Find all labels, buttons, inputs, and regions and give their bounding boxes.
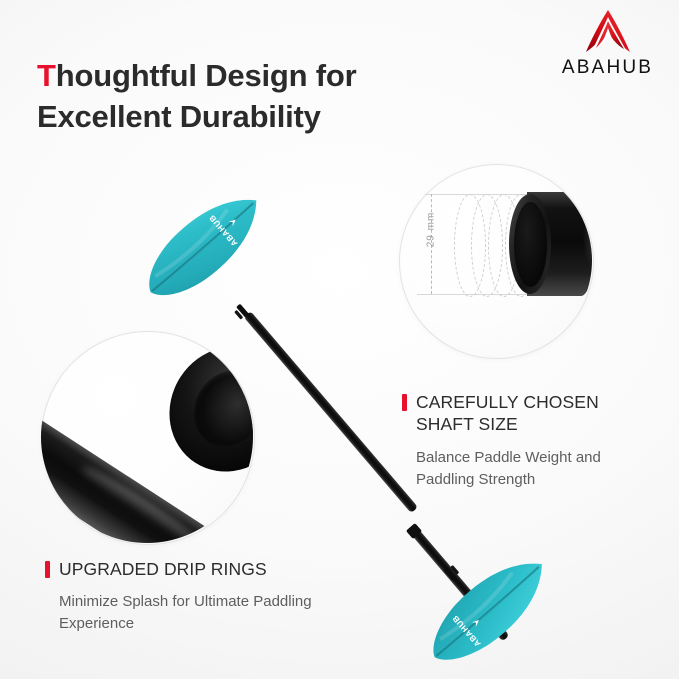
paddle-blade-top: ABAHUB [133,180,274,313]
callout-upgraded-drip-rings: UPGRADED DRIP RINGS Minimize Splash for … [45,558,345,635]
accent-bar-icon [45,561,50,578]
accent-bar-icon [402,394,407,411]
shaft-upper [244,311,419,513]
callout-carefully-chosen-shaft-size: CAREFULLY CHOSEN SHAFT SIZE Balance Padd… [402,391,660,491]
callout-header: CAREFULLY CHOSEN SHAFT SIZE [402,391,660,436]
infographic-canvas: ABAHUB Thoughtful Design for Excellent D… [0,0,679,679]
callout-body: Balance Paddle Weight and Paddling Stren… [416,447,660,491]
callout-title: UPGRADED DRIP RINGS [59,558,267,580]
callout-header: UPGRADED DRIP RINGS [45,558,345,580]
callout-body: Minimize Splash for Ultimate Paddling Ex… [59,591,345,635]
callout-title: CAREFULLY CHOSEN SHAFT SIZE [416,391,660,436]
